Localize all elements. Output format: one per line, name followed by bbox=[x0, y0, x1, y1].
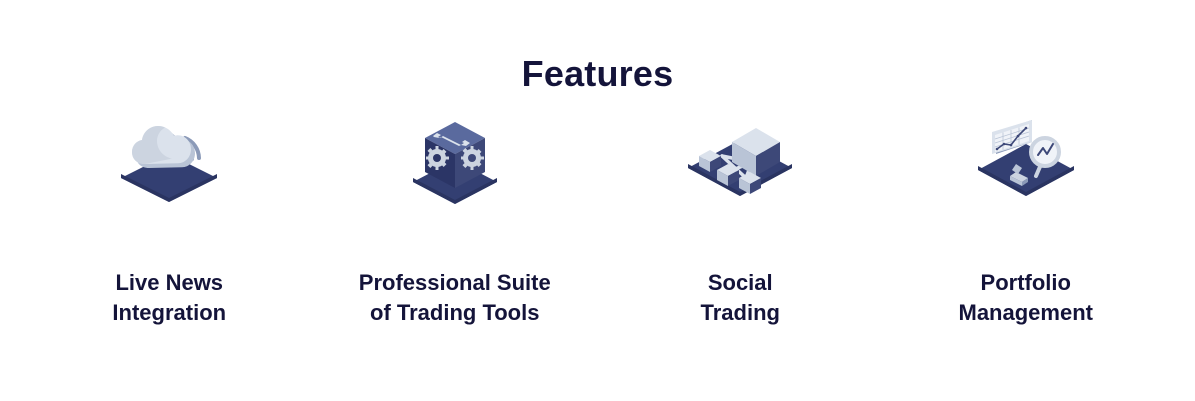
cloud-wifi-icon bbox=[109, 114, 229, 206]
features-section: Features bbox=[0, 0, 1195, 401]
page-title: Features bbox=[0, 0, 1195, 96]
network-nodes-icon bbox=[680, 114, 800, 206]
features-row: Live News Integration bbox=[27, 96, 1169, 328]
toolbox-gears-icon bbox=[395, 114, 515, 206]
feature-card-live-news[interactable]: Live News Integration bbox=[27, 114, 313, 328]
feature-label: Portfolio Management bbox=[959, 268, 1093, 328]
feature-label: Live News Integration bbox=[112, 268, 226, 328]
feature-card-portfolio[interactable]: Portfolio Management bbox=[883, 114, 1169, 328]
monitor-chart-magnifier-icon bbox=[966, 114, 1086, 206]
feature-label: Social Trading bbox=[701, 268, 780, 328]
feature-label: Professional Suite of Trading Tools bbox=[359, 268, 551, 328]
feature-card-social-trading[interactable]: Social Trading bbox=[598, 114, 884, 328]
feature-card-trading-tools[interactable]: Professional Suite of Trading Tools bbox=[312, 114, 598, 328]
